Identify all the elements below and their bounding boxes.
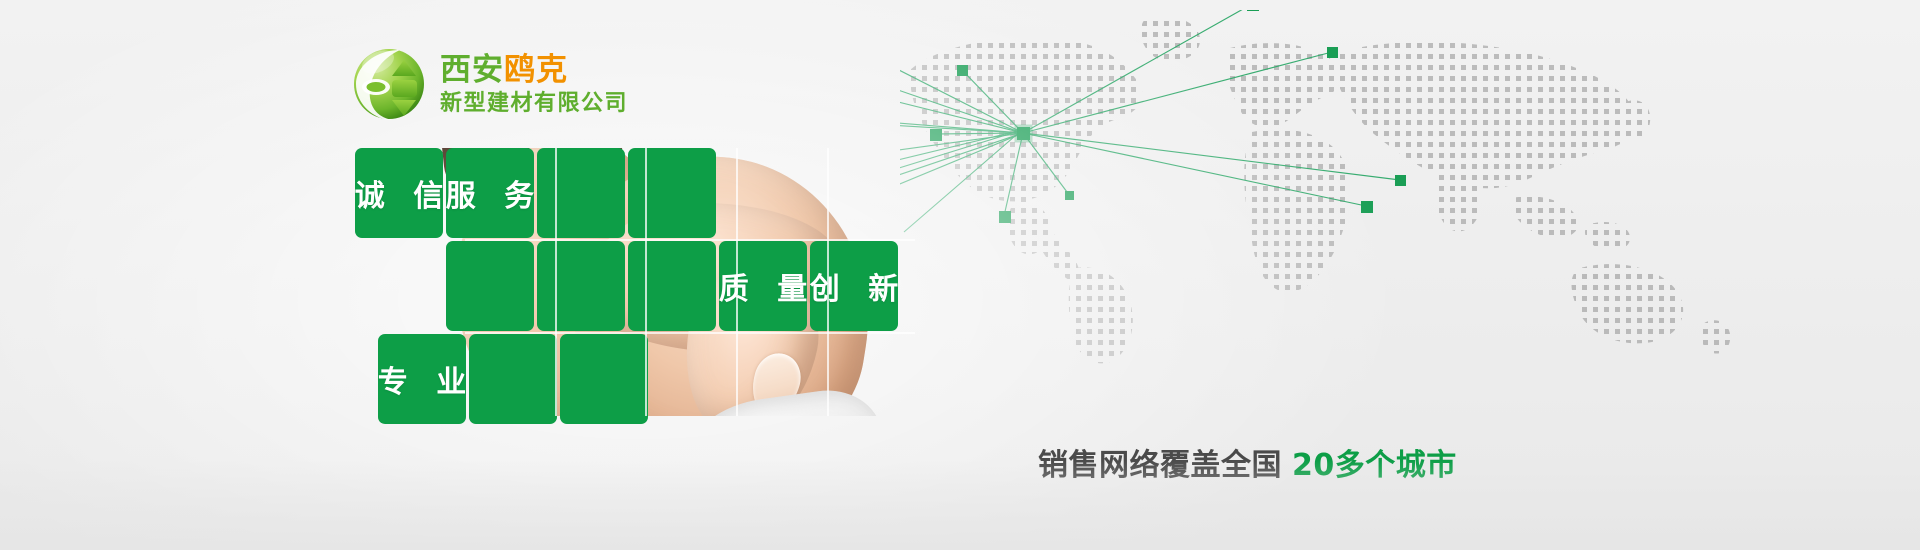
grid-line: [465, 239, 915, 241]
map-node: [1065, 191, 1074, 200]
logo-text-block: 西安鸥克 新型建材有限公司: [440, 53, 628, 115]
logo-company-name: 西安鸥克: [440, 55, 628, 86]
world-map-svg: [900, 10, 1750, 370]
map-node: [1247, 10, 1259, 11]
grid-line: [827, 148, 829, 416]
grid-line: [736, 148, 738, 416]
tile-fuwu[interactable]: 服 务: [446, 148, 534, 238]
tagline-dark-text: 销售网络覆盖全国: [1038, 448, 1282, 483]
tile-label: 服 务: [437, 171, 543, 215]
logo-company-subtitle: 新型建材有限公司: [440, 93, 628, 115]
map-node: [1395, 175, 1406, 186]
map-dot-landmass: [900, 10, 1750, 370]
green-globe-emblem-icon: [352, 46, 426, 122]
grid-line: [465, 332, 915, 334]
tile-blank-r1c1[interactable]: [446, 241, 534, 331]
tile-blank-r0c2[interactable]: [537, 148, 625, 238]
tile-blank-r2c3[interactable]: [560, 334, 648, 424]
tile-label: 创 新: [801, 264, 907, 308]
map-node: [1361, 201, 1373, 213]
map-node: [957, 65, 968, 76]
tagline-green-text: 20多个城市: [1292, 448, 1457, 483]
map-node: [930, 129, 942, 141]
bottom-fade: [0, 460, 1920, 550]
map-node: [999, 211, 1011, 223]
map-node: [1327, 47, 1338, 58]
tile-zhuanye[interactable]: 专 业: [378, 334, 466, 424]
sales-network-tagline: 销售网络覆盖全国20多个城市: [1038, 440, 1457, 484]
tile-blank-r1c2[interactable]: [537, 241, 625, 331]
grid-line: [645, 148, 647, 416]
tile-blank-r1c3[interactable]: [628, 241, 716, 331]
grid-line: [555, 148, 557, 416]
tile-blank-r0c3[interactable]: [628, 148, 716, 238]
tile-blank-r2c2[interactable]: [469, 334, 557, 424]
value-tile-mosaic: 诚 信 服 务 质 量 创 新 专 业: [355, 148, 915, 416]
logo-name-city: 西安: [440, 52, 504, 88]
world-map: [900, 10, 1750, 370]
company-logo[interactable]: 西安鸥克 新型建材有限公司: [352, 46, 628, 122]
tile-label: 专 业: [369, 357, 475, 401]
promo-banner: 西安鸥克 新型建材有限公司 诚 信 服 务 质 量: [0, 0, 1920, 550]
logo-name-brand: 鸥克: [504, 52, 568, 88]
tile-chuangxin[interactable]: 创 新: [810, 241, 898, 331]
tile-chengxin[interactable]: 诚 信: [355, 148, 443, 238]
tile-zhiliang[interactable]: 质 量: [719, 241, 807, 331]
